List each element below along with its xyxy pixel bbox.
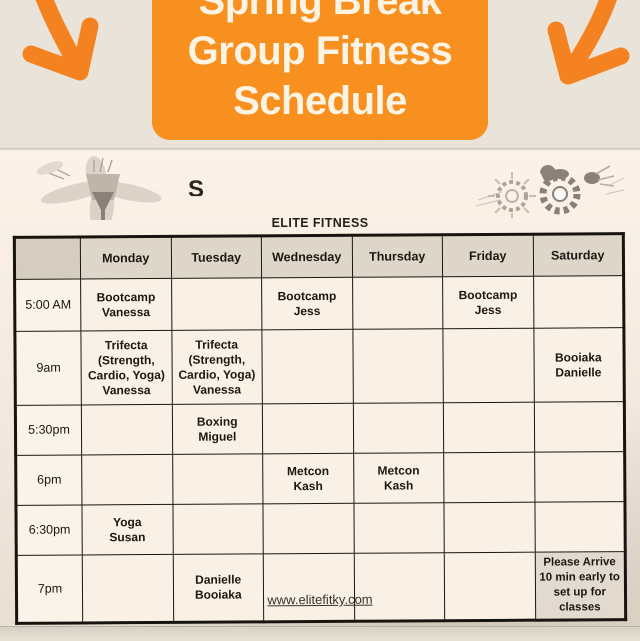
cell-monday bbox=[82, 454, 173, 505]
cell-wednesday: MetconKash bbox=[263, 453, 354, 504]
gym-name-heading: ELITE FITNESS bbox=[14, 216, 626, 230]
cell-thursday bbox=[353, 503, 444, 554]
cell-monday: YogaSusan bbox=[82, 504, 173, 555]
cell-thursday: MetconKash bbox=[353, 453, 444, 504]
title-overlay-box: Congrats!!! Spring Break Group Fitness S… bbox=[152, 0, 488, 140]
column-header-monday: Monday bbox=[80, 236, 171, 279]
cell-tuesday bbox=[171, 278, 262, 331]
row-time-label: 7pm bbox=[16, 555, 82, 623]
cell-wednesday bbox=[262, 329, 353, 404]
column-header-friday: Friday bbox=[442, 234, 533, 277]
cell-monday bbox=[82, 554, 173, 623]
cell-saturday: BooiakaDanielle bbox=[533, 328, 624, 403]
table-row: 7pm DanielleBooiaka Please Arrive 10 min… bbox=[16, 552, 625, 624]
paper-top-edge bbox=[0, 148, 640, 151]
cell-friday: BootcampJess bbox=[443, 276, 534, 329]
cell-saturday bbox=[533, 276, 624, 329]
column-header-thursday: Thursday bbox=[352, 235, 443, 278]
cell-tuesday: BoxingMiguel bbox=[172, 404, 263, 455]
row-time-label: 6pm bbox=[16, 455, 82, 505]
cell-friday bbox=[443, 402, 534, 453]
cell-thursday bbox=[352, 277, 443, 330]
title-line-3: Group Fitness bbox=[166, 26, 474, 76]
column-header-saturday: Saturday bbox=[533, 234, 624, 277]
table-row: 6:30pm YogaSusan bbox=[16, 502, 625, 556]
title-line-2: Spring Break bbox=[166, 0, 474, 26]
cell-saturday-note: Please Arrive 10 min early to set up for… bbox=[535, 552, 626, 621]
row-time-label: 5:30pm bbox=[15, 405, 81, 455]
cell-thursday bbox=[354, 553, 445, 622]
cell-friday bbox=[443, 328, 534, 403]
cell-tuesday bbox=[172, 504, 263, 555]
cell-tuesday: Trifecta(Strength,Cardio, Yoga)Vanessa bbox=[171, 330, 262, 405]
cell-monday bbox=[81, 404, 172, 455]
column-header-tuesday: Tuesday bbox=[171, 236, 262, 279]
table-header-row: Monday Tuesday Wednesday Thursday Friday… bbox=[14, 234, 623, 280]
cell-wednesday bbox=[262, 403, 353, 454]
table-row: 5:00 AM BootcampVanessa BootcampJess Boo… bbox=[15, 276, 624, 332]
column-header-wednesday: Wednesday bbox=[261, 235, 352, 278]
table-row: 5:30pm BoxingMiguel bbox=[15, 402, 624, 456]
cell-thursday bbox=[352, 329, 443, 404]
cell-wednesday: BootcampJess bbox=[262, 277, 353, 330]
table-row: 6pm MetconKash MetconKash bbox=[16, 452, 625, 506]
cell-tuesday: DanielleBooiaka bbox=[173, 554, 264, 623]
row-time-label: 6:30pm bbox=[16, 505, 82, 555]
cell-friday bbox=[444, 452, 535, 503]
schedule-table-wrapper: ELITE FITNESS Monday Tuesday Wednesday T… bbox=[14, 216, 626, 623]
column-header-time bbox=[14, 237, 80, 279]
cell-wednesday bbox=[263, 553, 354, 622]
title-line-4: Schedule bbox=[166, 76, 474, 126]
row-time-label: 9am bbox=[15, 331, 81, 405]
cell-monday: Trifecta(Strength,Cardio, Yoga)Vanessa bbox=[81, 330, 172, 405]
cell-wednesday bbox=[263, 503, 354, 554]
paper-bottom-edge bbox=[0, 626, 640, 641]
cell-friday bbox=[444, 502, 535, 553]
cell-saturday bbox=[534, 402, 625, 453]
cell-saturday bbox=[534, 502, 625, 553]
row-time-label: 5:00 AM bbox=[15, 279, 81, 331]
cell-saturday bbox=[534, 452, 625, 503]
class-schedule-table: Monday Tuesday Wednesday Thursday Friday… bbox=[13, 232, 627, 625]
cell-friday bbox=[444, 552, 535, 621]
table-row: 9am Trifecta(Strength,Cardio, Yoga)Vanes… bbox=[15, 328, 624, 406]
cell-thursday bbox=[353, 403, 444, 454]
cell-monday: BootcampVanessa bbox=[81, 278, 172, 331]
cell-tuesday bbox=[172, 454, 263, 505]
